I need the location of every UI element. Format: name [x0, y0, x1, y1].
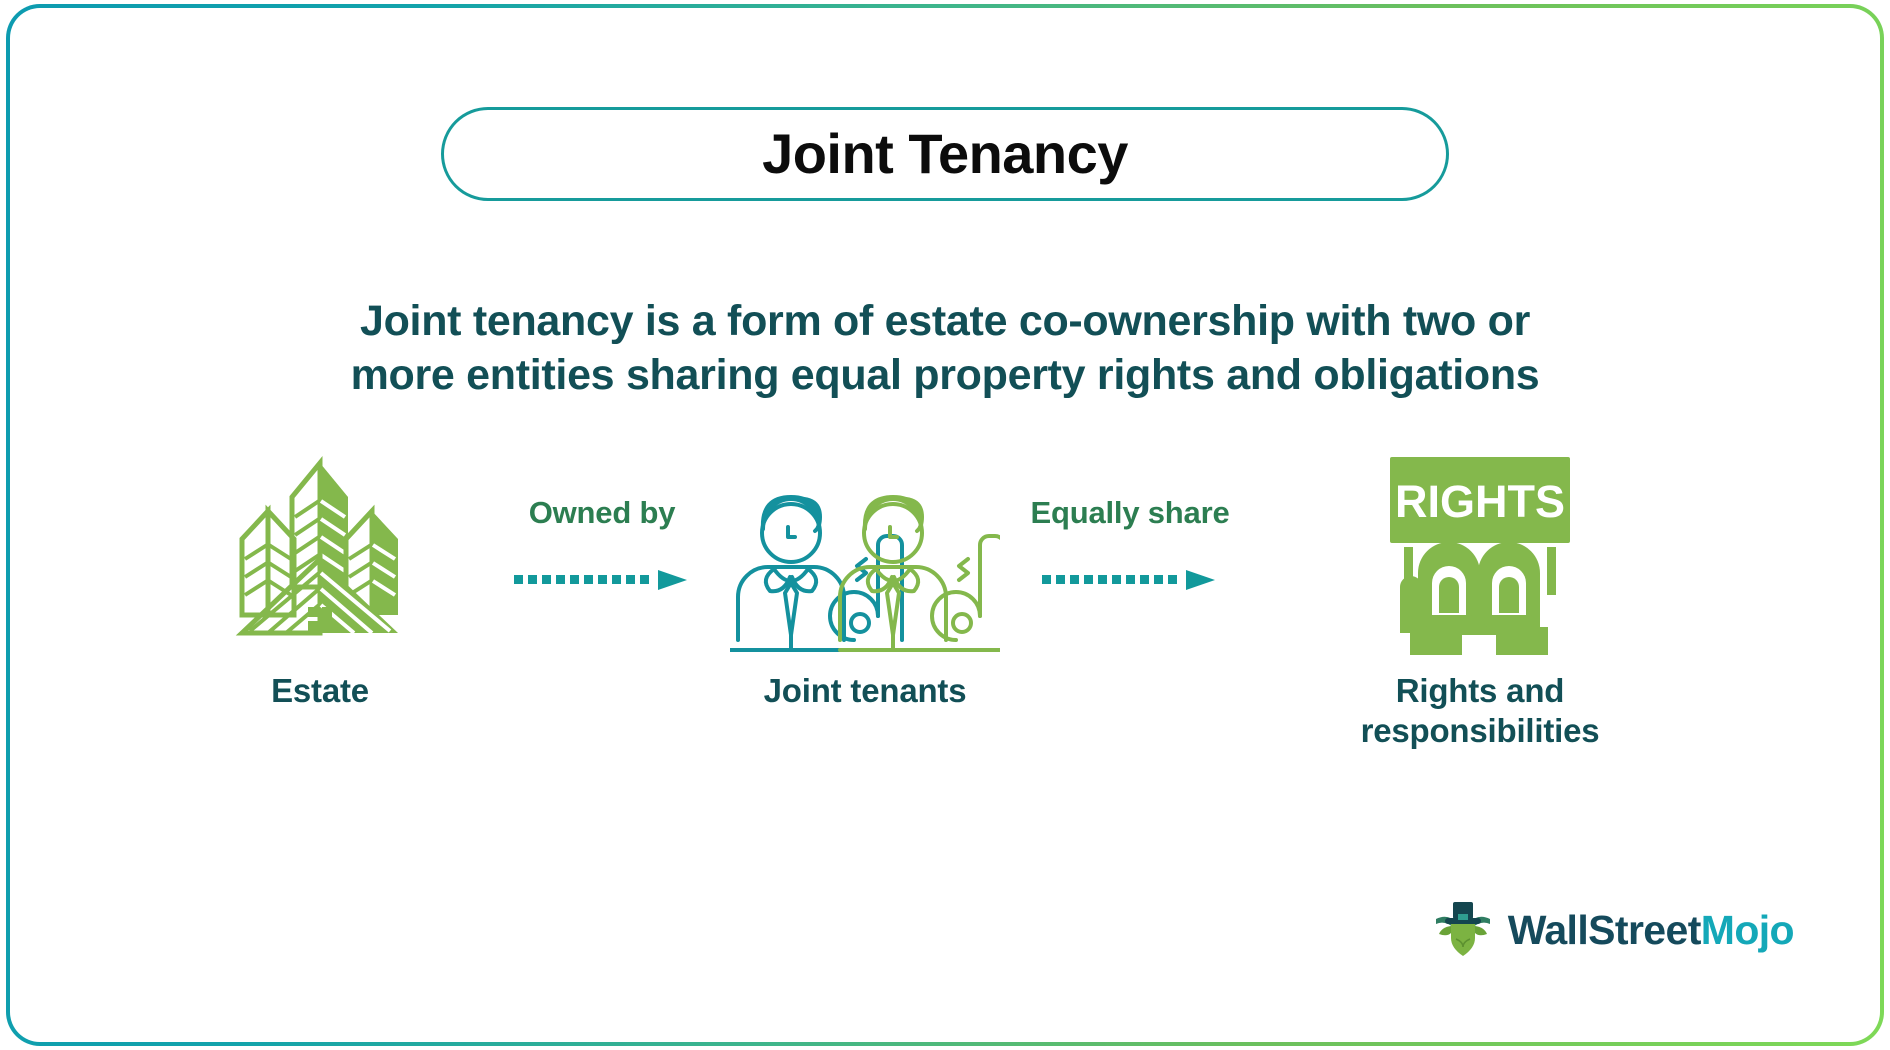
subtitle-line-1: Joint tenancy is a form of estate co-own… — [275, 295, 1615, 349]
bull-with-tophat-icon — [1432, 897, 1494, 964]
dotted-arrow-right-icon — [487, 569, 717, 591]
flow-connector-equally-share-label: Equally share — [1015, 495, 1245, 531]
rights-banner-icon: RIGHTS — [1290, 455, 1670, 655]
flow-node-joint-tenants-label: Joint tenants — [700, 671, 1030, 711]
flow-diagram: Estate Owned by — [170, 455, 1730, 805]
subtitle: Joint tenancy is a form of estate co-own… — [275, 295, 1615, 403]
two-people-keys-icon — [700, 455, 1030, 655]
infographic-canvas: Joint Tenancy Joint tenancy is a form of… — [0, 0, 1890, 1050]
title-pill: Joint Tenancy — [441, 107, 1449, 201]
logo-wordmark: WallStreetMojo — [1508, 910, 1794, 951]
flow-node-estate: Estate — [170, 455, 470, 711]
flow-node-joint-tenants: Joint tenants — [700, 455, 1030, 711]
flow-node-rights-label-line-2: responsibilities — [1290, 711, 1670, 751]
page-title: Joint Tenancy — [762, 126, 1128, 182]
logo-wordmark-wall: WallStreet — [1508, 907, 1701, 953]
dotted-arrow-right-icon — [1015, 569, 1245, 591]
rights-banner-text: RIGHTS — [1395, 476, 1565, 527]
flow-node-rights-label: Rights and responsibilities — [1290, 671, 1670, 750]
wallstreetmojo-logo[interactable]: WallStreetMojo — [1432, 897, 1794, 964]
buildings-icon — [170, 455, 470, 655]
flow-node-rights-label-line-1: Rights and — [1290, 671, 1670, 711]
flow-connector-equally-share: Equally share — [1015, 495, 1245, 591]
flow-node-estate-label: Estate — [170, 671, 470, 711]
flow-connector-owned-by-label: Owned by — [487, 495, 717, 531]
subtitle-line-2: more entities sharing equal property rig… — [275, 349, 1615, 403]
logo-wordmark-mojo: Mojo — [1701, 907, 1794, 953]
flow-connector-owned-by: Owned by — [487, 495, 717, 591]
infographic-content: Joint Tenancy Joint tenancy is a form of… — [0, 0, 1890, 1050]
flow-node-rights: RIGHTS Rights and responsibilities — [1290, 455, 1670, 750]
